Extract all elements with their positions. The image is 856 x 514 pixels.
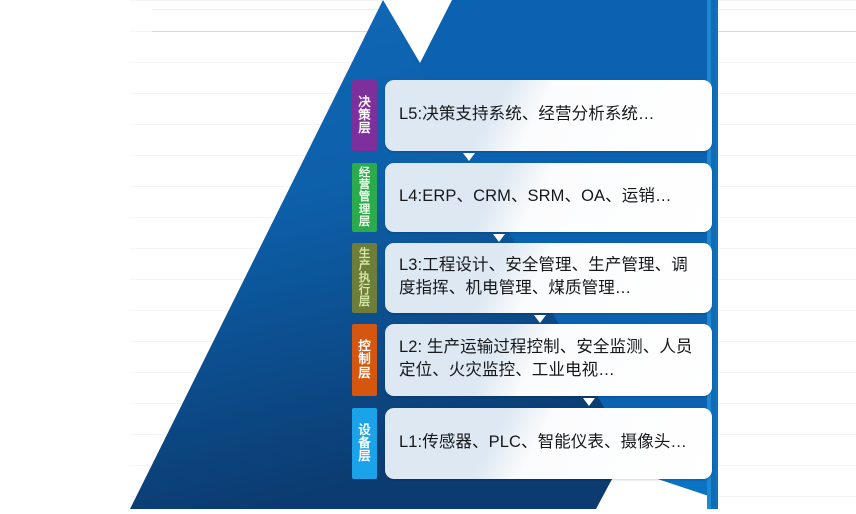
level-tag-L2: 控 制 层 bbox=[352, 324, 377, 396]
level-card-text-L2: L2: 生产运输过程控制、安全监测、人员定位、火灾监控、工业电视… bbox=[399, 336, 696, 383]
tag-char: 执 bbox=[359, 272, 371, 284]
level-card-text-L1: L1:传感器、PLC、智能仪表、摄像头… bbox=[399, 431, 687, 454]
level-card-L4[interactable]: L4:ERP、CRM、SRM、OA、运销… bbox=[385, 163, 712, 232]
tag-char: 理 bbox=[359, 204, 371, 216]
level-row-L4[interactable]: 经 营 管 理 层 L4:ERP、CRM、SRM、OA、运销… bbox=[352, 163, 712, 232]
tag-char: 层 bbox=[358, 122, 371, 135]
tag-char: 设 bbox=[358, 424, 371, 437]
level-tag-L3: 生 产 执 行 层 bbox=[352, 243, 377, 313]
tag-char: 营 bbox=[359, 179, 371, 191]
tag-char: 生 bbox=[359, 248, 371, 260]
chevron-down-icon-4 bbox=[583, 398, 595, 406]
level-card-text-L5: L5:决策支持系统、经营分析系统… bbox=[399, 103, 655, 126]
tag-char: 策 bbox=[358, 109, 371, 122]
level-card-L3[interactable]: L3:工程设计、安全管理、生产管理、调度指挥、机电管理、煤质管理… bbox=[385, 243, 712, 313]
tag-char: 管 bbox=[359, 191, 371, 203]
chevron-down-icon-3 bbox=[534, 315, 546, 323]
tag-char: 产 bbox=[359, 260, 371, 272]
level-row-L1[interactable]: 设 备 层 L1:传感器、PLC、智能仪表、摄像头… bbox=[352, 408, 712, 479]
pyramid-diagram-canvas: 决 策 层 L5:决策支持系统、经营分析系统… 经 营 管 理 层 L4:ERP… bbox=[0, 0, 856, 514]
level-card-text-L3: L3:工程设计、安全管理、生产管理、调度指挥、机电管理、煤质管理… bbox=[399, 254, 696, 301]
tag-char: 层 bbox=[359, 296, 371, 308]
tag-char: 经 bbox=[359, 167, 371, 179]
chevron-down-icon-1 bbox=[463, 153, 475, 161]
tag-char: 制 bbox=[358, 353, 371, 366]
level-card-text-L4: L4:ERP、CRM、SRM、OA、运销… bbox=[399, 185, 672, 208]
level-card-L1[interactable]: L1:传感器、PLC、智能仪表、摄像头… bbox=[385, 408, 712, 479]
level-card-L5[interactable]: L5:决策支持系统、经营分析系统… bbox=[385, 80, 712, 151]
tag-char: 层 bbox=[358, 367, 371, 380]
level-tag-L5: 决 策 层 bbox=[352, 80, 377, 151]
tag-char: 备 bbox=[358, 437, 371, 450]
level-row-L3[interactable]: 生 产 执 行 层 L3:工程设计、安全管理、生产管理、调度指挥、机电管理、煤质… bbox=[352, 243, 712, 313]
level-tag-L4: 经 营 管 理 层 bbox=[352, 163, 377, 232]
tag-char: 层 bbox=[358, 450, 371, 463]
level-card-L2[interactable]: L2: 生产运输过程控制、安全监测、人员定位、火灾监控、工业电视… bbox=[385, 324, 712, 396]
level-tag-L1: 设 备 层 bbox=[352, 408, 377, 479]
level-row-L2[interactable]: 控 制 层 L2: 生产运输过程控制、安全监测、人员定位、火灾监控、工业电视… bbox=[352, 324, 712, 396]
tag-char: 层 bbox=[359, 216, 371, 228]
tag-char: 决 bbox=[358, 96, 371, 109]
tag-char: 行 bbox=[359, 284, 371, 296]
level-row-L5[interactable]: 决 策 层 L5:决策支持系统、经营分析系统… bbox=[352, 80, 712, 151]
chevron-down-icon-2 bbox=[493, 234, 505, 242]
